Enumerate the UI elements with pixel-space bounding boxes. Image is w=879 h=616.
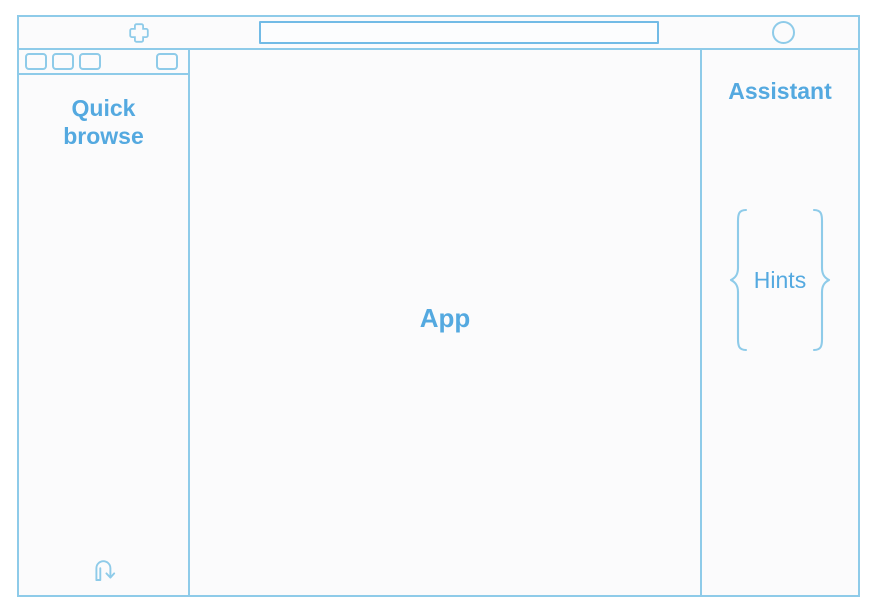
top-bar-left-section <box>19 17 259 48</box>
sidebar-tool-button-3[interactable] <box>79 53 101 70</box>
assistant-heading: Assistant <box>728 78 832 105</box>
app-panel-label: App <box>420 303 471 334</box>
sidebar-tool-button-4[interactable] <box>156 53 178 70</box>
assistant-panel: Assistant Hints <box>702 50 858 595</box>
hints-label: Hints <box>750 267 810 294</box>
wireframe-canvas: Quick browse App <box>0 0 879 616</box>
main-app-panel: App <box>190 50 702 595</box>
left-curly-brace-icon <box>728 207 750 353</box>
sidebar: Quick browse <box>19 50 190 595</box>
top-bar <box>19 17 858 50</box>
u-turn-arrow-icon <box>89 555 119 585</box>
top-bar-center-section <box>259 17 708 48</box>
sidebar-heading-line-2: browse <box>27 122 180 150</box>
plus-icon <box>128 22 150 44</box>
window-body: Quick browse App <box>19 50 858 595</box>
avatar-icon[interactable] <box>772 21 795 44</box>
undo-button[interactable] <box>89 555 119 585</box>
hints-group: Hints <box>702 205 858 355</box>
top-bar-right-section <box>708 17 858 48</box>
sidebar-heading: Quick browse <box>19 94 188 150</box>
sidebar-tool-button-2[interactable] <box>52 53 74 70</box>
right-curly-brace-icon <box>810 207 832 353</box>
sidebar-heading-line-1: Quick <box>27 94 180 122</box>
sidebar-footer <box>19 555 188 585</box>
search-input[interactable] <box>259 21 659 44</box>
app-window: Quick browse App <box>17 15 860 597</box>
sidebar-toolbar <box>19 50 188 75</box>
sidebar-tool-button-1[interactable] <box>25 53 47 70</box>
add-button[interactable] <box>128 22 150 44</box>
